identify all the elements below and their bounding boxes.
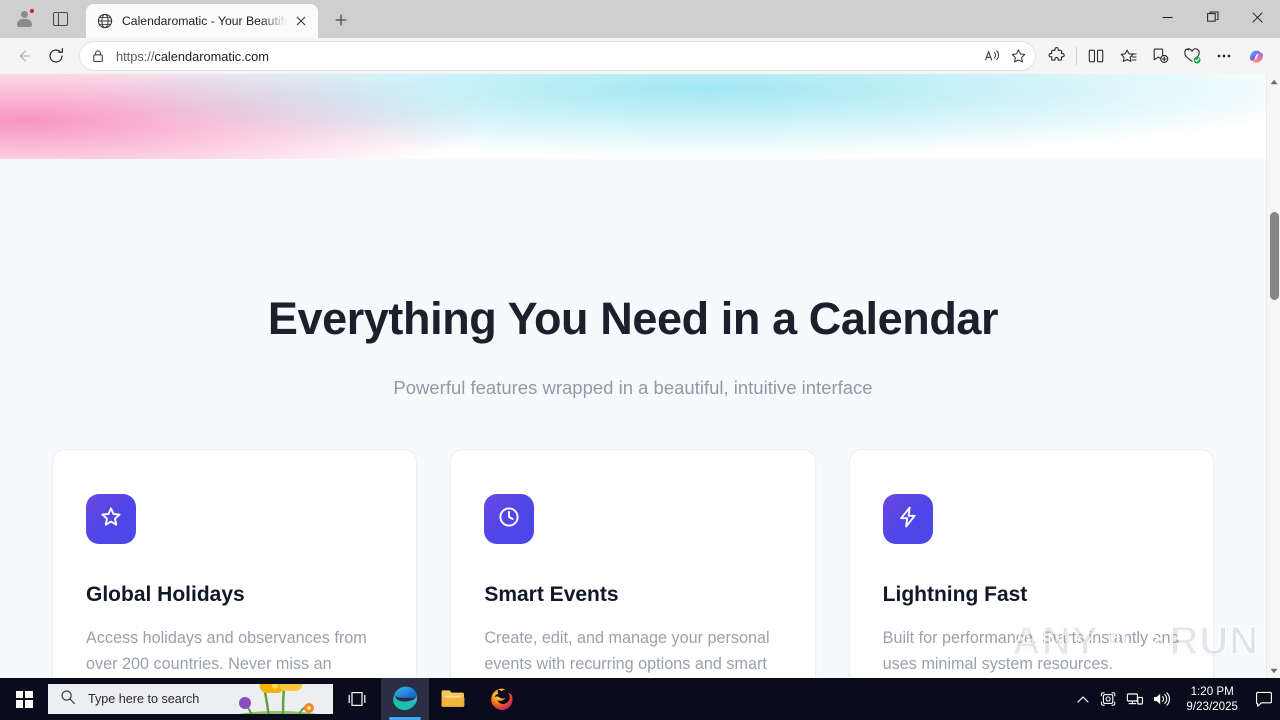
collections-icon[interactable] xyxy=(1112,41,1144,71)
tab-actions-button[interactable] xyxy=(44,4,76,34)
settings-more-icon[interactable] xyxy=(1208,41,1240,71)
refresh-button[interactable] xyxy=(40,41,72,71)
scrollbar-thumb[interactable] xyxy=(1270,212,1279,300)
profile-button[interactable] xyxy=(6,3,42,35)
card-icon-badge xyxy=(484,494,534,544)
card-title: Lightning Fast xyxy=(883,583,1180,607)
clock-icon xyxy=(497,505,521,534)
lightning-bolt-icon xyxy=(896,505,920,534)
star-icon xyxy=(99,505,123,534)
minimize-button[interactable] xyxy=(1145,0,1190,34)
back-button[interactable] xyxy=(8,41,40,71)
split-screen-icon[interactable] xyxy=(1080,41,1112,71)
url-text: https://calendaromatic.com xyxy=(116,49,979,64)
restore-button[interactable] xyxy=(1190,0,1235,34)
card-description: Access holidays and observances from ove… xyxy=(86,626,383,678)
clock-time: 1:20 PM xyxy=(1186,684,1238,699)
url-scheme: https:// xyxy=(116,49,154,64)
card-description: Built for performance. Starts instantly … xyxy=(883,626,1180,678)
globe-icon xyxy=(97,13,113,29)
back-arrow-icon xyxy=(15,47,33,65)
card-icon-badge xyxy=(883,494,933,544)
url-host: calendaromatic.com xyxy=(154,49,269,64)
system-tray: 1:20 PM 9/23/2025 xyxy=(1070,678,1280,720)
add-favorite-icon[interactable] xyxy=(1144,41,1176,71)
show-hidden-icons-button[interactable] xyxy=(1070,678,1096,720)
hero-gradient-band xyxy=(0,74,1266,159)
taskbar-app-file-explorer[interactable] xyxy=(429,678,477,720)
clock-date: 9/23/2025 xyxy=(1186,699,1238,714)
lock-icon xyxy=(90,48,106,64)
card-description: Create, edit, and manage your personal e… xyxy=(484,626,781,678)
feature-card-list: Global Holidays Access holidays and obse… xyxy=(0,449,1266,678)
search-input[interactable]: Type here to search xyxy=(48,684,333,714)
feature-card[interactable]: Smart Events Create, edit, and manage yo… xyxy=(450,449,815,678)
page-subtitle: Powerful features wrapped in a beautiful… xyxy=(0,377,1266,399)
screen-recorder-icon[interactable] xyxy=(1096,678,1122,720)
browser-tab[interactable]: Calendaromatic - Your Beautiful W xyxy=(86,4,318,38)
favorite-star-icon[interactable] xyxy=(1005,44,1031,68)
windows-logo-icon xyxy=(16,691,33,708)
taskbar-app-firefox[interactable] xyxy=(477,678,525,720)
card-title: Global Holidays xyxy=(86,583,383,607)
profile-alert-dot xyxy=(29,8,35,14)
search-icon xyxy=(60,689,76,710)
plus-icon xyxy=(335,14,347,26)
browser-toolbar: https://calendaromatic.com xyxy=(0,38,1280,74)
read-aloud-icon[interactable] xyxy=(979,44,1005,68)
browser-essentials-icon[interactable] xyxy=(1176,41,1208,71)
feature-card[interactable]: Global Holidays Access holidays and obse… xyxy=(52,449,417,678)
new-tab-button[interactable] xyxy=(326,5,356,35)
search-highlight-image xyxy=(223,684,333,714)
toolbar-divider xyxy=(1076,47,1077,65)
page-viewport: Everything You Need in a Calendar Powerf… xyxy=(0,74,1280,678)
tab-strip: Calendaromatic - Your Beautiful W xyxy=(0,0,1280,38)
close-icon[interactable] xyxy=(290,10,312,32)
task-view-icon xyxy=(347,690,367,708)
page-title: Everything You Need in a Calendar xyxy=(0,293,1266,345)
scroll-down-icon[interactable] xyxy=(1267,663,1280,678)
file-explorer-icon xyxy=(440,687,466,711)
firefox-icon xyxy=(489,687,514,712)
window-controls xyxy=(1145,0,1280,34)
windows-taskbar: Type here to search xyxy=(0,678,1280,720)
card-icon-badge xyxy=(86,494,136,544)
scroll-up-icon[interactable] xyxy=(1267,74,1280,89)
address-bar[interactable]: https://calendaromatic.com xyxy=(80,42,1035,70)
edge-icon xyxy=(392,686,418,712)
taskbar-app-edge[interactable] xyxy=(381,678,429,720)
notification-icon xyxy=(1255,691,1273,708)
card-title: Smart Events xyxy=(484,583,781,607)
start-button[interactable] xyxy=(0,678,48,720)
refresh-icon xyxy=(47,47,65,65)
network-icon[interactable] xyxy=(1122,678,1148,720)
search-placeholder: Type here to search xyxy=(88,692,199,706)
volume-icon[interactable] xyxy=(1148,678,1174,720)
page-content: Everything You Need in a Calendar Powerf… xyxy=(0,159,1266,678)
tab-actions-icon xyxy=(53,12,68,26)
copilot-icon[interactable] xyxy=(1240,41,1272,71)
task-view-button[interactable] xyxy=(333,678,381,720)
extensions-icon[interactable] xyxy=(1041,41,1073,71)
action-center-button[interactable] xyxy=(1250,678,1278,720)
tab-title: Calendaromatic - Your Beautiful W xyxy=(122,14,288,28)
close-button[interactable] xyxy=(1235,0,1280,34)
browser-chrome: Calendaromatic - Your Beautiful W xyxy=(0,0,1280,74)
vertical-scrollbar[interactable] xyxy=(1266,74,1280,678)
feature-card[interactable]: Lightning Fast Built for performance. St… xyxy=(849,449,1214,678)
clock[interactable]: 1:20 PM 9/23/2025 xyxy=(1174,684,1250,714)
screen: Calendaromatic - Your Beautiful W xyxy=(0,0,1280,720)
